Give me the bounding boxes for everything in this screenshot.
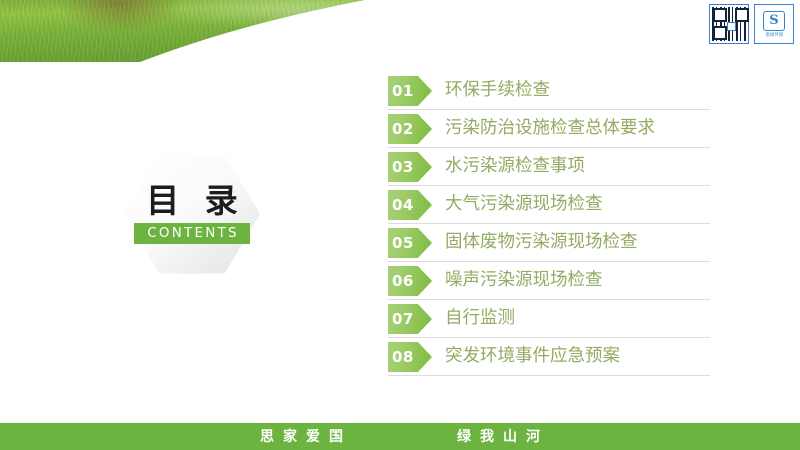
item-number: 02 — [388, 122, 414, 137]
item-number-chevron: 08 — [388, 342, 432, 372]
qr-code-icon[interactable] — [709, 4, 749, 44]
list-item[interactable]: 01 环保手续检查 — [388, 72, 760, 110]
item-number-chevron: 02 — [388, 114, 432, 144]
item-label: 大气污染源现场检查 — [445, 196, 603, 214]
item-number: 07 — [388, 312, 414, 327]
badge-title: 目 录 — [139, 184, 245, 217]
qr-center-dot — [727, 22, 736, 31]
item-number-chevron: 01 — [388, 76, 432, 106]
item-number: 08 — [388, 350, 414, 365]
item-label: 噪声污染源现场检查 — [445, 272, 603, 290]
brand-badges: S 思绿环保 — [709, 4, 794, 44]
logo-mark-icon: S — [763, 11, 785, 31]
list-item[interactable]: 08 突发环境事件应急预案 — [388, 338, 760, 376]
footer-slogan-left: 思家爱国 — [251, 430, 352, 444]
list-item[interactable]: 05 固体废物污染源现场检查 — [388, 224, 760, 262]
contents-hex-badge: 目 录 CONTENTS — [124, 152, 260, 276]
item-label: 自行监测 — [445, 310, 515, 328]
contents-list: 01 环保手续检查 02 污染防治设施检查总体要求 03 水污染源检查事项 04… — [388, 72, 760, 376]
item-number: 06 — [388, 274, 414, 289]
item-number-chevron: 03 — [388, 152, 432, 182]
item-number-chevron: 06 — [388, 266, 432, 296]
item-number-chevron: 04 — [388, 190, 432, 220]
footer-slogan-right: 绿我山河 — [448, 430, 549, 444]
item-number: 01 — [388, 84, 414, 99]
list-item[interactable]: 06 噪声污染源现场检查 — [388, 262, 760, 300]
item-number: 03 — [388, 160, 414, 175]
footer-bar: 思家爱国 绿我山河 — [0, 423, 800, 450]
slide-root: S 思绿环保 目 录 CONTENTS 01 环保手续检查 02 污染防治设施检… — [0, 0, 800, 450]
item-label: 突发环境事件应急预案 — [445, 348, 620, 366]
logo-company-name: 思绿环保 — [765, 32, 783, 38]
company-logo[interactable]: S 思绿环保 — [754, 4, 794, 44]
list-item[interactable]: 03 水污染源检查事项 — [388, 148, 760, 186]
list-item[interactable]: 02 污染防治设施检查总体要求 — [388, 110, 760, 148]
header-grass-banner — [0, 0, 560, 62]
list-item[interactable]: 04 大气污染源现场检查 — [388, 186, 760, 224]
item-number-chevron: 07 — [388, 304, 432, 334]
item-label: 水污染源检查事项 — [445, 158, 585, 176]
item-label: 污染防治设施检查总体要求 — [445, 120, 655, 138]
item-number: 05 — [388, 236, 414, 251]
item-label: 环保手续检查 — [445, 82, 550, 100]
badge-subtitle: CONTENTS — [134, 223, 249, 244]
item-number-chevron: 05 — [388, 228, 432, 258]
item-number: 04 — [388, 198, 414, 213]
list-item[interactable]: 07 自行监测 — [388, 300, 760, 338]
item-label: 固体废物污染源现场检查 — [445, 234, 638, 252]
item-separator — [388, 375, 710, 376]
